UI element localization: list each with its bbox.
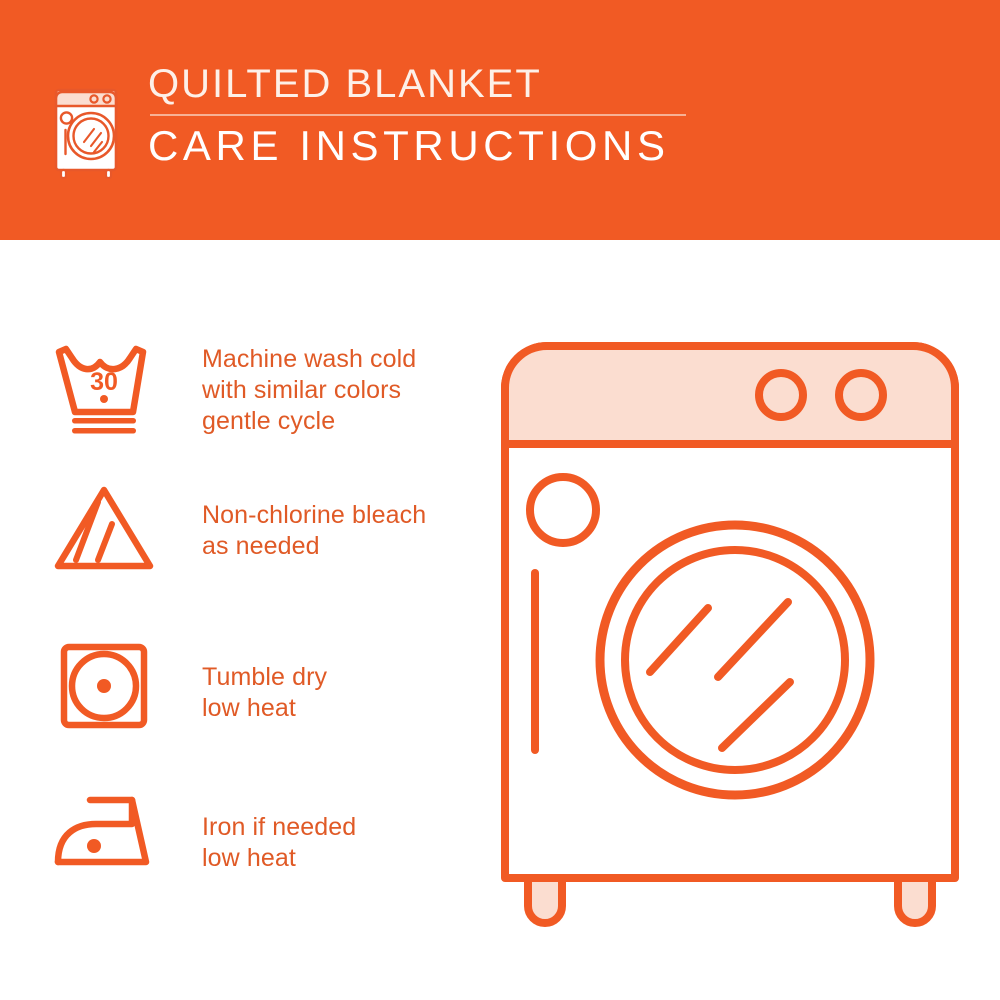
care-text-tumble-dry: Tumble dry low heat <box>202 662 327 724</box>
iron-low-heat-icon <box>50 788 158 876</box>
leg-right <box>898 878 932 923</box>
tumble-dry-low-heat-icon <box>50 640 158 732</box>
leg-left <box>528 878 562 923</box>
title-divider <box>150 114 686 116</box>
page-header: QUILTED BLANKET CARE INSTRUCTIONS <box>0 0 1000 240</box>
care-row-bleach: Non-chlorine bleach as needed <box>50 482 426 574</box>
washing-machine-icon <box>44 68 126 180</box>
care-row-iron: Iron if needed low heat <box>50 788 356 876</box>
header-title-block: QUILTED BLANKET CARE INSTRUCTIONS <box>148 62 686 169</box>
care-row-tumble-dry: Tumble dry low heat <box>50 640 327 732</box>
header-content: QUILTED BLANKET CARE INSTRUCTIONS <box>44 62 686 180</box>
care-symbol-wrap <box>50 482 170 574</box>
front-load-washing-machine-illustration <box>490 330 970 940</box>
care-symbol-wrap <box>50 788 170 876</box>
care-symbol-wrap: 30 <box>50 340 170 436</box>
care-text-bleach: Non-chlorine bleach as needed <box>202 500 426 562</box>
machine-wash-cold-gentle-icon: 30 <box>50 340 158 436</box>
care-text-machine-wash: Machine wash cold with similar colors ge… <box>202 344 416 437</box>
non-chlorine-bleach-icon <box>50 482 158 574</box>
page-title-primary: QUILTED BLANKET <box>148 62 686 106</box>
care-text-iron: Iron if needed low heat <box>202 812 356 874</box>
page-title-secondary: CARE INSTRUCTIONS <box>148 123 686 169</box>
care-row-machine-wash: 30 Machine wash cold with similar colors… <box>50 340 416 437</box>
control-panel <box>505 346 955 444</box>
wash-temperature-label: 30 <box>90 368 118 396</box>
care-symbol-wrap <box>50 640 170 732</box>
